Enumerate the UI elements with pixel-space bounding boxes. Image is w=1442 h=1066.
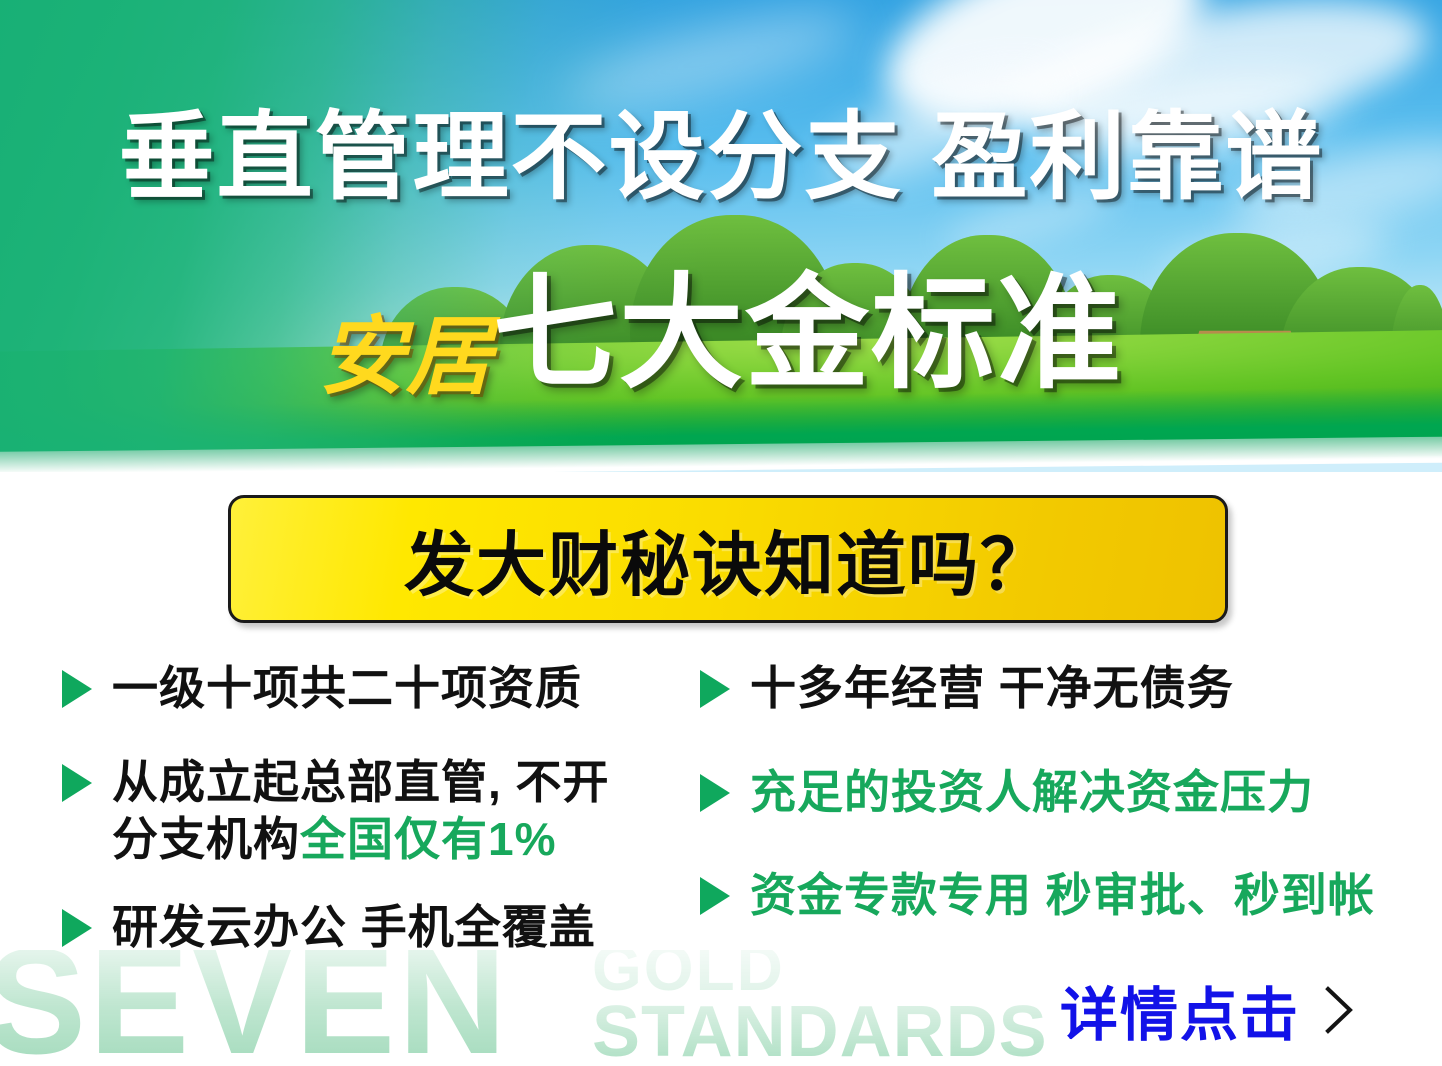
feature-item-line2-highlight: 全国仅有1% (300, 813, 556, 865)
headline-cta-bar-label: 发大财秘诀知道吗？ (404, 509, 1052, 610)
feature-item-label: 十多年经营 干净无债务 (750, 660, 1234, 718)
watermark-standards-text: STANDARDS (592, 996, 1048, 1066)
hero-headline-primary: 垂直管理不设分支 盈利靠谱 (0, 110, 1442, 206)
triangle-bullet-icon (62, 764, 92, 802)
headline-cta-bar[interactable]: 发大财秘诀知道吗？ (228, 495, 1228, 623)
feature-column-right: 十多年经营 干净无债务 充足的投资人解决资金压力 资金专款专用 秒审批、秒到帐 (700, 660, 1420, 951)
details-cta-label: 详情点击 (1060, 968, 1300, 1052)
hero-headline-secondary: 安居七大金标准 (0, 272, 1442, 400)
feature-item-cloud-office: 研发云办公 手机全覆盖 (62, 899, 682, 957)
feature-item-label: 充足的投资人解决资金压力 (750, 764, 1314, 822)
feature-item-line1: 从成立起总部直管, 不开 (112, 756, 610, 808)
triangle-bullet-icon (62, 909, 92, 947)
feature-column-left: 一级十项共二十项资质 从成立起总部直管, 不开分支机构全国仅有1% 研发云办公 … (62, 660, 682, 982)
triangle-bullet-icon (700, 670, 730, 708)
feature-item-line2-plain: 分支机构 (112, 813, 300, 865)
feature-item-dedicated-funds: 资金专款专用 秒审批、秒到帐 (700, 867, 1420, 925)
details-cta-link[interactable]: 详情点击 (1060, 968, 1356, 1052)
feature-item-headquarters-direct: 从成立起总部直管, 不开分支机构全国仅有1% (62, 754, 682, 869)
triangle-bullet-icon (700, 877, 730, 915)
feature-item-investors-funding: 充足的投资人解决资金压力 (700, 764, 1420, 822)
feature-columns: 一级十项共二十项资质 从成立起总部直管, 不开分支机构全国仅有1% 研发云办公 … (0, 660, 1442, 990)
feature-item-label: 一级十项共二十项资质 (112, 660, 582, 718)
feature-item-label: 研发云办公 手机全覆盖 (112, 899, 596, 957)
triangle-bullet-icon (700, 774, 730, 812)
triangle-bullet-icon (62, 670, 92, 708)
feature-item-qualifications: 一级十项共二十项资质 (62, 660, 682, 718)
hero-headline-standards: 七大金标准 (493, 265, 1123, 403)
feature-item-years-operating: 十多年经营 干净无债务 (700, 660, 1420, 718)
feature-item-label: 资金专款专用 秒审批、秒到帐 (750, 867, 1375, 925)
promo-banner: 垂直管理不设分支 盈利靠谱 安居七大金标准 发大财秘诀知道吗？ SEVEN GO… (0, 0, 1442, 1066)
feature-item-label: 从成立起总部直管, 不开分支机构全国仅有1% (112, 754, 610, 869)
hero-headline-brand: 安居 (319, 309, 493, 405)
chevron-right-icon (1322, 984, 1356, 1036)
